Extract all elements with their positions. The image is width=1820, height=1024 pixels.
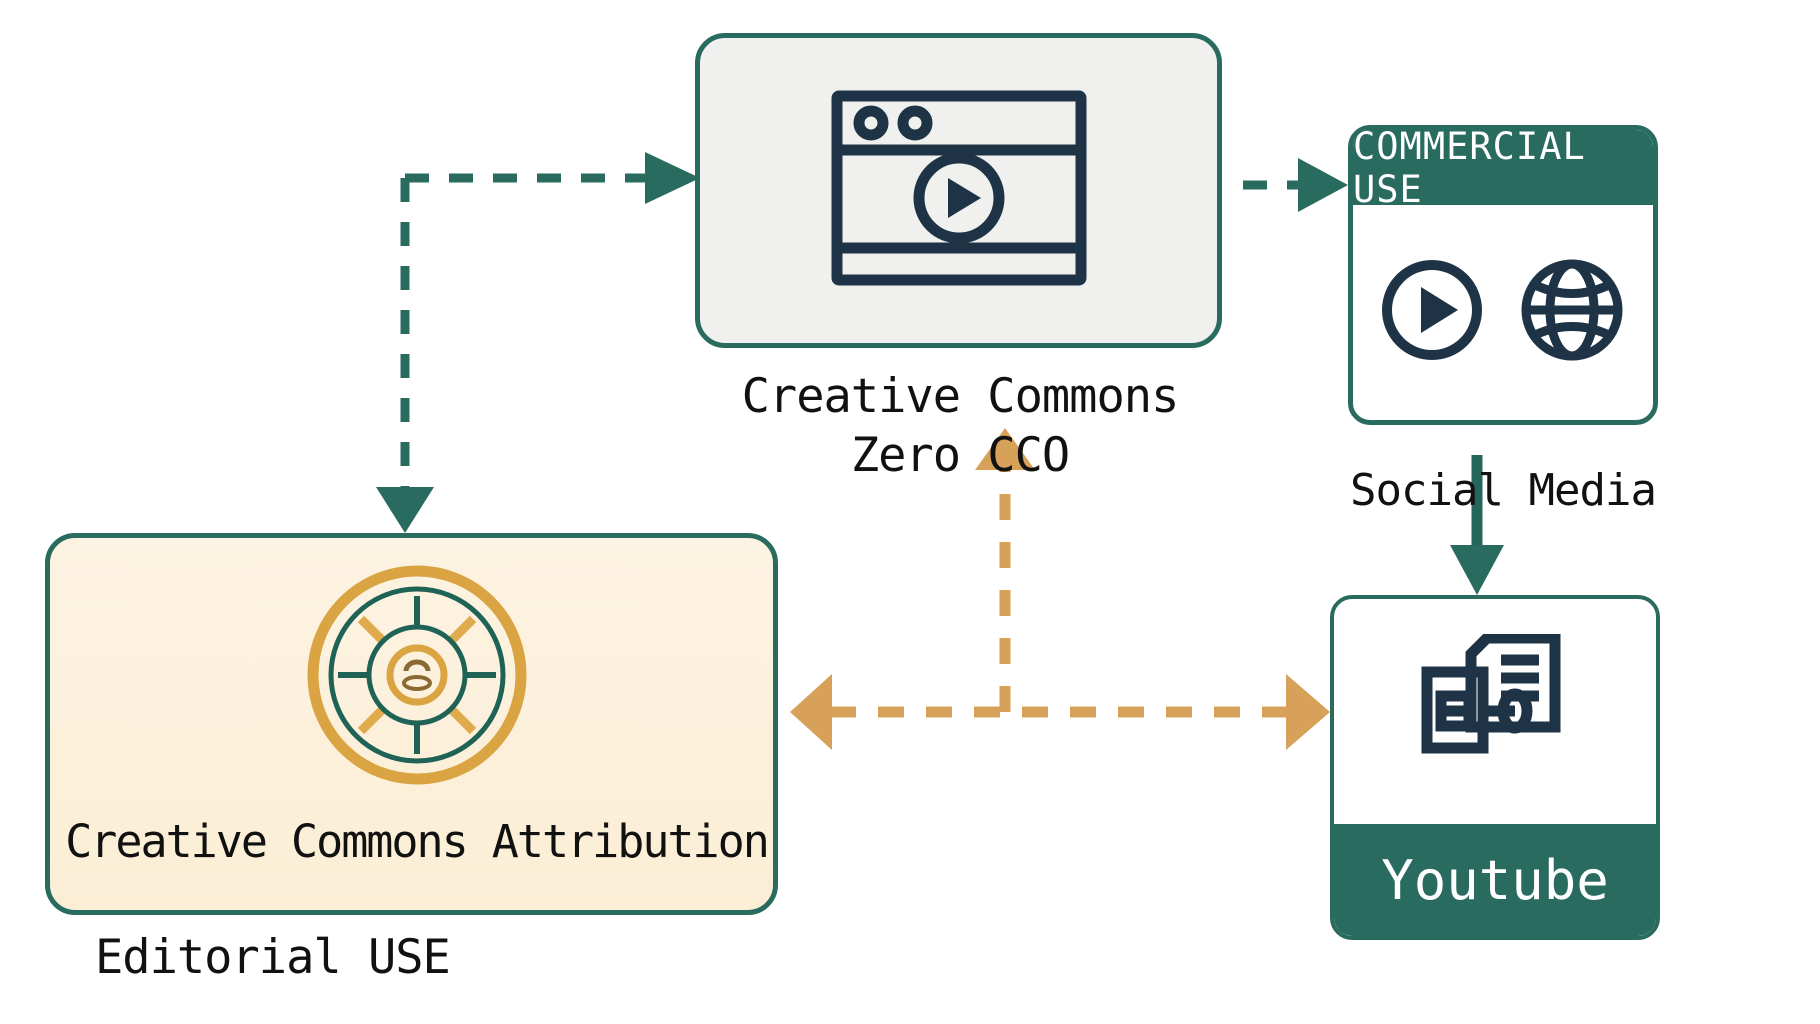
attribution-title: Creative Commons Attribution [50,815,783,868]
card-creative-commons-attribution[interactable]: Creative Commons Attribution [45,533,778,915]
commercial-use-header-text: COMMERCIAL USE [1353,125,1653,211]
attribution-icon-wrap [50,560,783,795]
label-creative-commons-zero: Creative Commons Zero CCO [660,368,1260,486]
youtube-footer: Youtube [1334,824,1656,936]
label-social-media: Social Media [1348,465,1658,516]
label-editorial-use: Editorial USE [95,930,450,985]
commercial-use-header: COMMERCIAL USE [1353,130,1653,205]
browser-window-play-icon [829,88,1089,293]
creative-commons-wheel-icon [302,560,532,795]
youtube-footer-text: Youtube [1381,849,1609,912]
card-creative-commons-zero[interactable] [695,33,1222,348]
globe-icon [1516,254,1628,371]
card-commercial-use[interactable]: COMMERCIAL USE [1348,125,1658,425]
cc-zero-label-line-2: Zero CCO [660,427,1260,486]
documents-attachment-icon [1405,634,1585,789]
youtube-body [1334,599,1656,824]
diagram-canvas: Creative Commons Zero CCO [0,0,1820,1024]
commercial-use-body [1353,205,1653,420]
cc-zero-label-line-1: Creative Commons [660,368,1260,427]
card-youtube[interactable]: Youtube [1330,595,1660,940]
play-circle-icon [1378,256,1486,369]
